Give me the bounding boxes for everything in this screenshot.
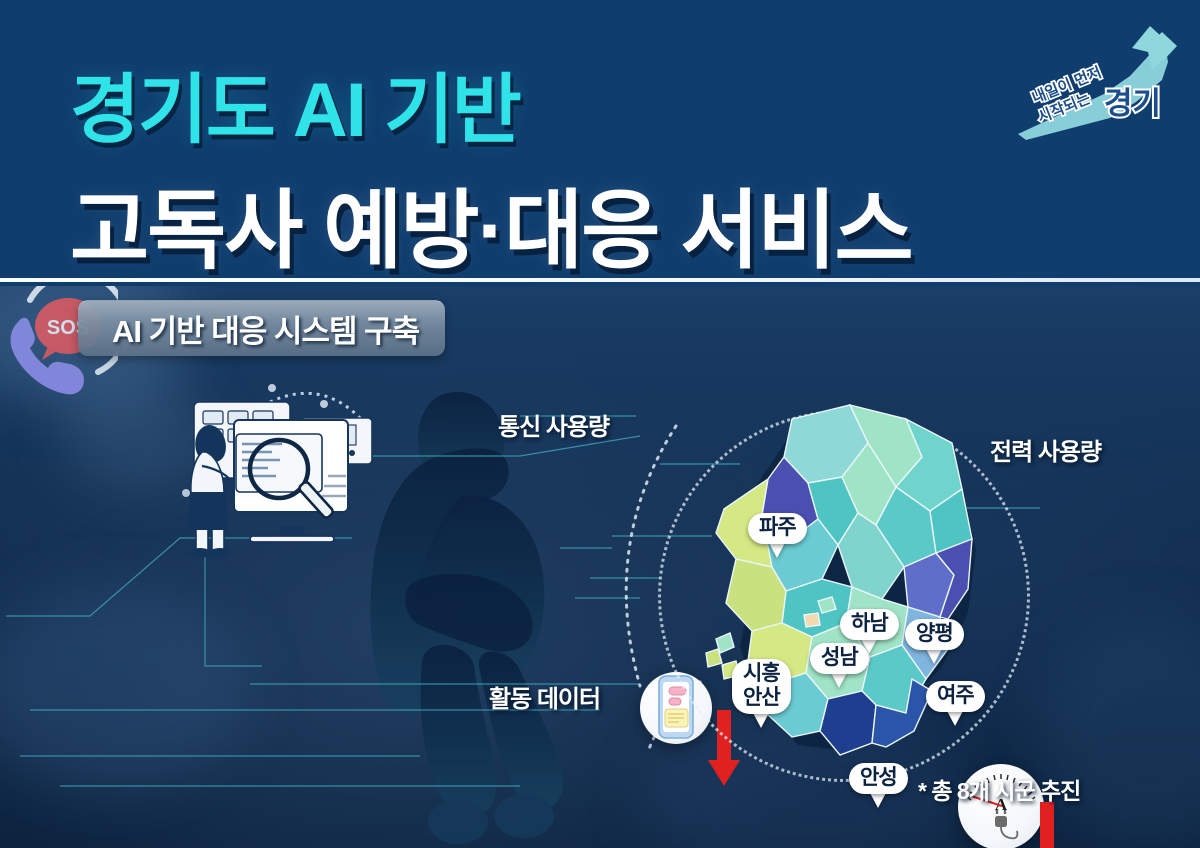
page-title-line1: 경기도 AI 기반 <box>70 48 520 158</box>
map-pin-label: 시흥 안산 <box>732 659 791 714</box>
map-pin-paju[interactable]: 파주 <box>748 513 807 558</box>
map-pin-anseong[interactable]: 안성 <box>849 763 908 808</box>
gyeonggi-bi-logo: 내일이 먼저 시작되는 경기 <box>1012 18 1182 140</box>
map-pin-siheung-ansan[interactable]: 시흥 안산 <box>732 659 791 728</box>
poster-header: 경기도 AI 기반 고독사 예방·대응 서비스 내일이 먼저 시작되는 경기 <box>0 0 1200 282</box>
trend-down-arrow <box>1030 802 1064 848</box>
poster-body: AI 기반 대응 시스템 구축 <box>0 286 1200 848</box>
node-label-activity: 활동 데이터 <box>489 679 600 714</box>
subtitle-banner: AI 기반 대응 시스템 구축 <box>78 300 445 356</box>
node-label-comm: 통신 사용량 <box>498 407 609 442</box>
map-pin-label: 성남 <box>810 643 869 674</box>
map-pin-yeoju[interactable]: 여주 <box>926 681 985 726</box>
map-pin-label-line1: 시흥 <box>743 662 780 686</box>
subtitle-label: AI 기반 대응 시스템 구축 <box>112 306 419 351</box>
map-pin-yangpyeong[interactable]: 양평 <box>905 619 964 664</box>
map-pin-label: 파주 <box>748 513 807 544</box>
page-title-line2: 고독사 예방·대응 서비스 <box>70 160 912 282</box>
map-pin-label: 양평 <box>905 619 964 650</box>
infographic-poster: 경기도 AI 기반 고독사 예방·대응 서비스 내일이 먼저 시작되는 경기 <box>0 0 1200 848</box>
footnote: * 총 8개 시군 추진 <box>918 772 1080 806</box>
ai-monitoring-dashboard-illustration <box>172 380 402 562</box>
map-pin-label-line2: 안산 <box>743 686 780 710</box>
logo-wordmark: 경기 <box>1104 86 1161 121</box>
map-pin-label: 하남 <box>840 609 899 640</box>
map-pin-label: 안성 <box>849 763 908 794</box>
map-pin-label: 여주 <box>926 681 985 712</box>
map-pin-seongnam[interactable]: 성남 <box>810 643 869 688</box>
